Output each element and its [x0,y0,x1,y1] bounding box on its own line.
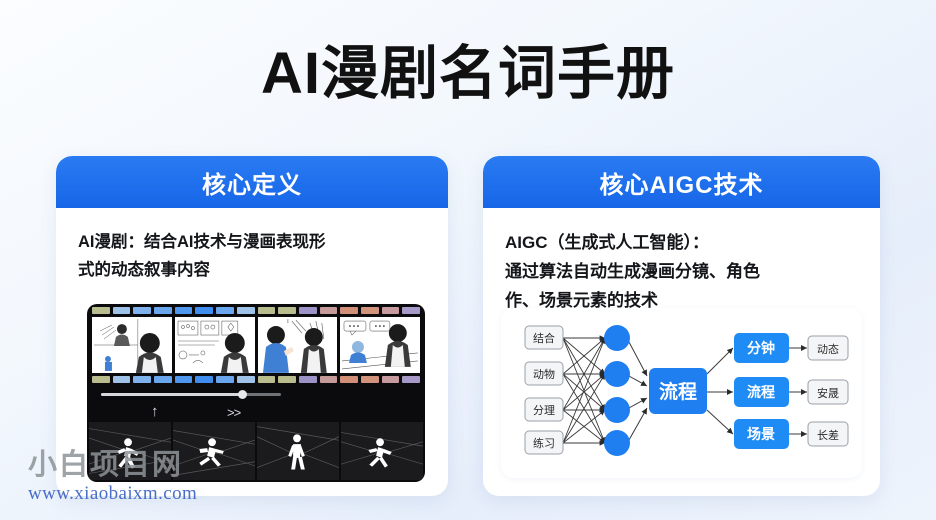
diagram-hidden-nodes [604,325,630,456]
filmstrip-perforation-row-bottom [87,373,425,386]
watermark-url: www.xiaobaixm.com [28,482,197,506]
card-description-text: AI漫剧：结合AI技术与漫画表现形 式的动态叙事内容 [78,228,426,284]
timeline-slider-fill [101,393,241,396]
svg-text:长差: 长差 [817,428,839,442]
card-body-core-aigc-tech: AIGC（生成式人工智能）： 通过算法自动生成漫画分镜、角色 作、场景元素的技术 [483,208,880,315]
filmstrip-perforation-row-top [87,304,425,317]
card-core-aigc-tech: 核心AIGC技术 AIGC（生成式人工智能）： 通过算法自动生成漫画分镜、角色 … [483,156,880,496]
timeline-slider-knob[interactable] [238,390,247,399]
playback-controls: ↑ >> [87,406,425,422]
diagram-output-nodes: 分钟 流程 场景 [734,333,789,449]
diagram-edges-input-hidden [563,338,605,443]
diagram-center-node: 流程 [649,368,707,414]
manga-panel-2 [175,317,255,373]
filmstrip-panel-row [87,317,425,373]
manga-panel-2-art [175,317,255,373]
svg-text:动态: 动态 [817,343,839,356]
timeline-slider-track[interactable] [101,393,281,396]
manga-panel-4 [340,317,420,373]
card-description-text: AIGC（生成式人工智能）： 通过算法自动生成漫画分镜、角色 作、场景元素的技术 [505,228,858,315]
svg-text:场景: 场景 [747,426,775,442]
card-header-core-aigc-tech: 核心AIGC技术 [483,156,880,208]
manga-panel-4-art [340,317,420,373]
svg-text:练习: 练习 [533,436,555,450]
card-header-core-definition: 核心定义 [56,156,448,208]
aigc-flow-diagram: 结合 动物 分理 练习 流程 分钟 [501,308,862,478]
manga-panel-1-art [92,317,172,373]
walk-cycle-frame-3-art [257,422,339,480]
card-header-label: 核心定义 [202,165,302,200]
watermark-brand: 小白项目网 [28,448,197,482]
diagram-edges-hidden-center [629,342,647,440]
fast-forward-icon[interactable]: >> [227,405,240,420]
svg-text:流程: 流程 [659,380,697,403]
timeline-slider[interactable] [87,386,425,406]
diagram-edges-output-terminal [789,348,807,434]
manga-panel-1 [92,317,172,373]
svg-text:动物: 动物 [533,367,555,381]
walk-cycle-frame-4 [341,422,423,480]
svg-text:流程: 流程 [747,384,775,400]
up-arrow-icon[interactable]: ↑ [151,403,159,420]
card-body-core-definition: AI漫剧：结合AI技术与漫画表现形 式的动态叙事内容 [56,208,448,284]
card-core-definition: 核心定义 AI漫剧：结合AI技术与漫画表现形 式的动态叙事内容 [56,156,448,496]
aigc-flow-diagram-svg: 结合 动物 分理 练习 流程 分钟 [501,308,862,478]
svg-text:安晟: 安晟 [817,386,839,400]
diagram-edges-center-output [707,348,733,434]
walk-cycle-frame-3 [257,422,339,480]
svg-text:分钟: 分钟 [747,340,775,356]
diagram-terminal-nodes: 动态 安晟 长差 [808,336,848,446]
svg-text:分理: 分理 [533,404,555,417]
diagram-input-nodes: 结合 动物 分理 练习 [525,326,563,454]
manga-panel-3-art [258,317,338,373]
walk-cycle-frame-4-art [341,422,423,480]
watermark: 小白项目网 www.xiaobaixm.com [28,448,197,506]
page-title: AI漫剧名词手册 [0,38,936,110]
manga-panel-3 [258,317,338,373]
card-header-label: 核心AIGC技术 [600,165,764,200]
svg-text:结合: 结合 [533,331,555,345]
